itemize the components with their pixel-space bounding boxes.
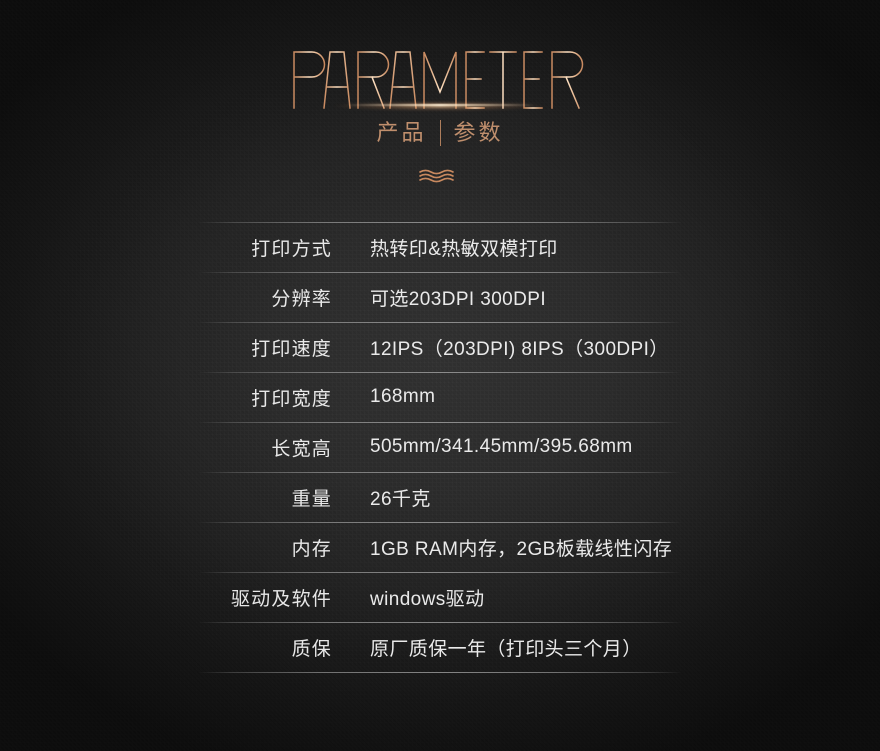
wave-ornament [0, 168, 880, 184]
spec-value: windows驱动 [370, 584, 840, 611]
page-header: 产品 参数 [0, 0, 880, 184]
spec-label: 打印宽度 [0, 384, 332, 411]
table-row: 内存 1GB RAM内存，2GB板载线性闪存 [0, 522, 880, 572]
parameter-spec-page: 产品 参数 打印方式 热转印&热敏双模打印 分辨率 可选203DPI 300DP… [0, 0, 880, 751]
subtitle-right: 参数 [454, 122, 504, 144]
spec-label: 质保 [0, 634, 332, 661]
spec-value: 12IPS（203DPI) 8IPS（300DPI） [370, 334, 840, 361]
spec-value: 26千克 [370, 484, 840, 511]
page-subtitle: 产品 参数 [0, 120, 880, 146]
spec-value: 原厂质保一年（打印头三个月） [370, 634, 840, 661]
spec-label: 分辨率 [0, 284, 332, 311]
spec-value: 可选203DPI 300DPI [370, 284, 840, 311]
title-wrap [0, 46, 880, 110]
table-row: 质保 原厂质保一年（打印头三个月） [0, 622, 880, 672]
spec-label: 打印方式 [0, 234, 332, 261]
table-row: 分辨率 可选203DPI 300DPI [0, 272, 880, 322]
subtitle-separator-bar [440, 120, 441, 146]
spec-table: 打印方式 热转印&热敏双模打印 分辨率 可选203DPI 300DPI 打印速度… [0, 222, 880, 672]
subtitle-left: 产品 [376, 122, 426, 144]
spec-label: 驱动及软件 [0, 584, 332, 611]
spec-value: 1GB RAM内存，2GB板载线性闪存 [370, 534, 840, 561]
spec-value: 168mm [370, 386, 840, 408]
page-title [290, 46, 590, 110]
table-bottom-divider [198, 672, 682, 673]
table-row: 驱动及软件 windows驱动 [0, 572, 880, 622]
spec-label: 长宽高 [0, 434, 332, 461]
table-row: 打印速度 12IPS（203DPI) 8IPS（300DPI） [0, 322, 880, 372]
spec-label: 重量 [0, 484, 332, 511]
spec-value: 505mm/341.45mm/395.68mm [370, 436, 840, 458]
spec-label: 打印速度 [0, 334, 332, 361]
table-row: 打印宽度 168mm [0, 372, 880, 422]
wave-ornament-icon [418, 168, 462, 184]
table-row: 重量 26千克 [0, 472, 880, 522]
table-row: 打印方式 热转印&热敏双模打印 [0, 222, 880, 272]
table-row: 长宽高 505mm/341.45mm/395.68mm [0, 422, 880, 472]
spec-value: 热转印&热敏双模打印 [370, 234, 840, 261]
spec-label: 内存 [0, 534, 332, 561]
